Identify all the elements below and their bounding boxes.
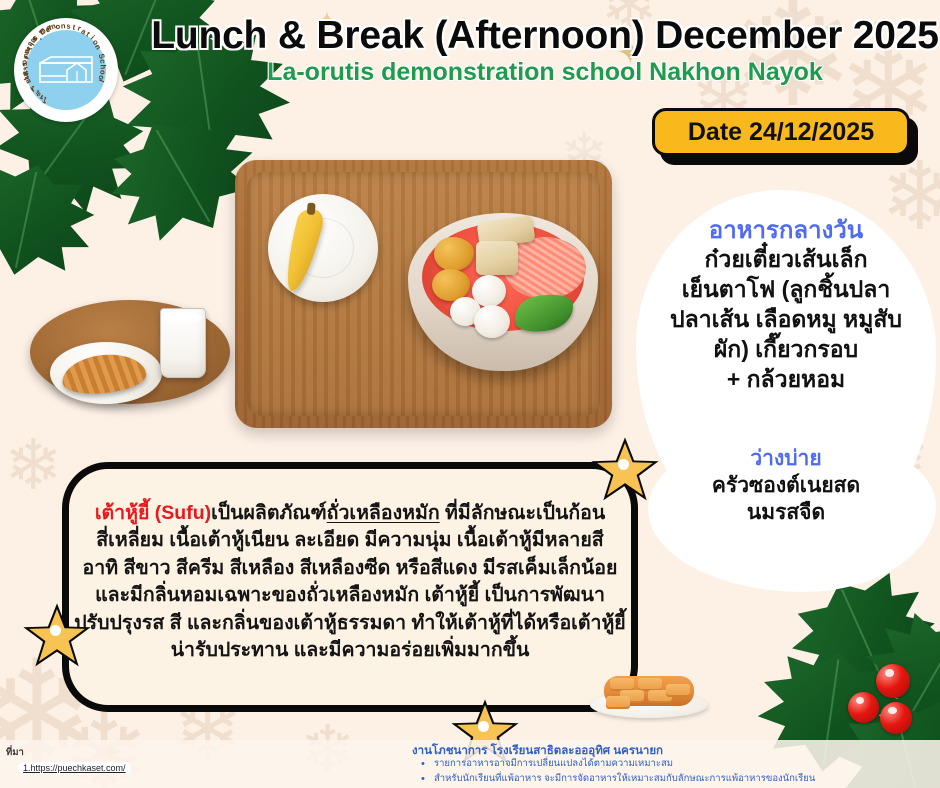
article-line-4: และมีกลิ่นหอมเฉพาะของถั่วเหลืองหมัก เต้า… (72, 582, 628, 609)
fish-ball (474, 305, 510, 338)
source-label: ที่มา (6, 745, 131, 760)
footer-note: สำหรับนักเรียนที่แพ้อาหาร จะมีการจัดอาหา… (418, 772, 938, 787)
lunch-line: ผัก) เกี๊ยวกรอบ (630, 335, 940, 365)
snack-heading: ว่างบ่าย (636, 442, 936, 475)
source-link[interactable]: 1.https://puechkaset.com/ (18, 762, 131, 774)
date-badge-label: Date 24/12/2025 (652, 108, 910, 156)
banana-plate (268, 194, 378, 302)
fermented-tofu-plate-icon (590, 672, 708, 718)
lunch-items: ก๋วยเตี๋ยวเส้นเล็ก เย็นตาโฟ (ลูกชิ้นปลา … (630, 245, 940, 394)
lunch-line: ปลาเส้น เลือดหมู หมูสับ (630, 305, 940, 335)
logo-ring-text: La-orutis Demonstration Schoolโรงเรียนสา… (14, 18, 118, 122)
poster-canvas: ❄ ❄ ❄ ❄ ❄ ❄ ❄ ❄ ❄ ❄ ❄ ❄ ✦ ✦ ✦ ✦ (0, 0, 940, 788)
holly-berry (848, 692, 879, 723)
snack-items: ครัวซองต์เนยสด นมรสจืด (630, 472, 940, 527)
page-title: Lunch & Break (Afternoon) December 2025 (150, 14, 940, 58)
article-underlined: ถั่วเหลืองหมัก (327, 502, 440, 524)
article-text: เต้าหู้ยี้ (Sufu)เป็นผลิตภัณฑ์ถั่วเหลือง… (72, 500, 628, 665)
article-line-2: สี่เหลี่ยม เนื้อเต้าหู้เนียน ละเอียด มีค… (72, 527, 628, 554)
article-line-6: น่ารับประทาน และมีความอร่อยเพิ่มมากขึ้น (72, 637, 628, 664)
snack-line: นมรสจืด (630, 499, 940, 526)
footer-notes: รายการอาหารอาจมีการเปลี่ยนแปลงได้ตามความ… (418, 757, 938, 786)
lunch-line: ก๋วยเตี๋ยวเส้นเล็ก (630, 245, 940, 275)
fried-tofu (476, 241, 518, 275)
article-lead: เป็นผลิตภัณฑ์ (211, 502, 327, 524)
date-badge[interactable]: Date 24/12/2025 (652, 108, 910, 156)
article-highlight: เต้าหู้ยี้ (Sufu) (95, 502, 211, 524)
article-line-5: ปรับปรุงรส สี และกลิ่นของเต้าหู้ธรรมดา ท… (72, 610, 628, 637)
lunch-heading: อาหารกลางวัน (636, 210, 936, 249)
article-line-3: อาทิ สีขาว สีครีม สีเหลือง สีเหลืองซีด ห… (72, 555, 628, 582)
article-line-1: เต้าหู้ยี้ (Sufu)เป็นผลิตภัณฑ์ถั่วเหลือง… (72, 500, 628, 527)
article-line-tail: ที่มีลักษณะเป็นก้อน (440, 502, 606, 524)
holly-berry (880, 702, 912, 734)
lunch-line: + กล้วยหอม (630, 365, 940, 395)
milk-glass (160, 308, 206, 378)
lunch-line: เย็นตาโฟ (ลูกชิ้นปลา (630, 275, 940, 305)
school-logo: La-orutis Demonstration Schoolโรงเรียนสา… (14, 18, 118, 122)
footer-note: รายการอาหารอาจมีการเปลี่ยนแปลงได้ตามความ… (418, 757, 938, 772)
page-subtitle: La-orutis demonstration school Nakhon Na… (150, 58, 940, 87)
source-box: ที่มา 1.https://puechkaset.com/ (6, 745, 131, 774)
holly-berry (876, 664, 910, 698)
snack-line: ครัวซองต์เนยสด (630, 472, 940, 499)
